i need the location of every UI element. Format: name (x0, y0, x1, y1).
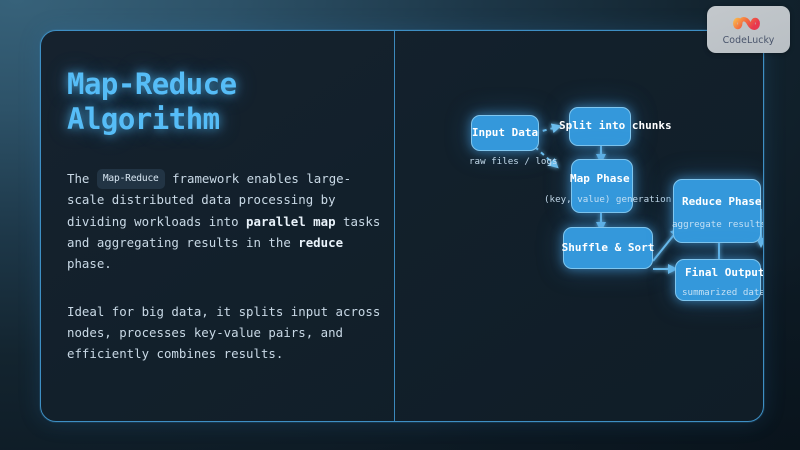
flow-node-subtitle: raw files / logs (469, 157, 558, 167)
flow-node-subtitle: aggregate results (672, 220, 763, 230)
flow-node-title: Input Data (472, 127, 538, 139)
brand-name: CodeLucky (723, 35, 775, 46)
content-card: Map-Reduce Algorithm The Map-Reduce fram… (40, 30, 764, 422)
emphasis-text: parallel map (246, 214, 336, 229)
flow-node-final[interactable]: Final Output summarized data (675, 259, 761, 301)
body-paragraph-2: Ideal for big data, it splits input acro… (67, 301, 383, 365)
body-paragraph-1: The Map-Reduce framework enables large-s… (67, 168, 383, 275)
page-title: Map-Reduce Algorithm (67, 67, 383, 138)
infinity-icon (729, 13, 769, 34)
flow-node-shuffle[interactable]: Shuffle & Sort (563, 227, 653, 269)
flow-node-split[interactable]: Split into chunks (569, 107, 631, 146)
inline-code-chip: Map-Reduce (97, 169, 165, 190)
flow-node-title: Final Output (685, 267, 763, 279)
flowchart-panel: Input Data raw files / logs Split into c… (395, 31, 763, 421)
flow-node-title: Map Phase (570, 173, 630, 185)
brand-logo-panel: CodeLucky (707, 6, 790, 53)
flow-node-map[interactable]: Map Phase (key, value) generation (571, 159, 633, 213)
flow-node-title: Shuffle & Sort (562, 242, 655, 254)
emphasis-text: reduce (298, 235, 343, 250)
flow-node-input[interactable]: Input Data raw files / logs (471, 115, 539, 151)
flow-node-title: Split into chunks (559, 120, 672, 132)
slide-canvas: Map-Reduce Algorithm The Map-Reduce fram… (0, 0, 800, 450)
flow-node-reduce[interactable]: Reduce Phase aggregate results (673, 179, 761, 243)
flow-node-title: Reduce Phase (682, 196, 761, 208)
flow-node-subtitle: summarized data (682, 288, 763, 298)
flow-node-subtitle: (key, value) generation (544, 195, 671, 205)
left-panel: Map-Reduce Algorithm The Map-Reduce fram… (67, 67, 383, 365)
